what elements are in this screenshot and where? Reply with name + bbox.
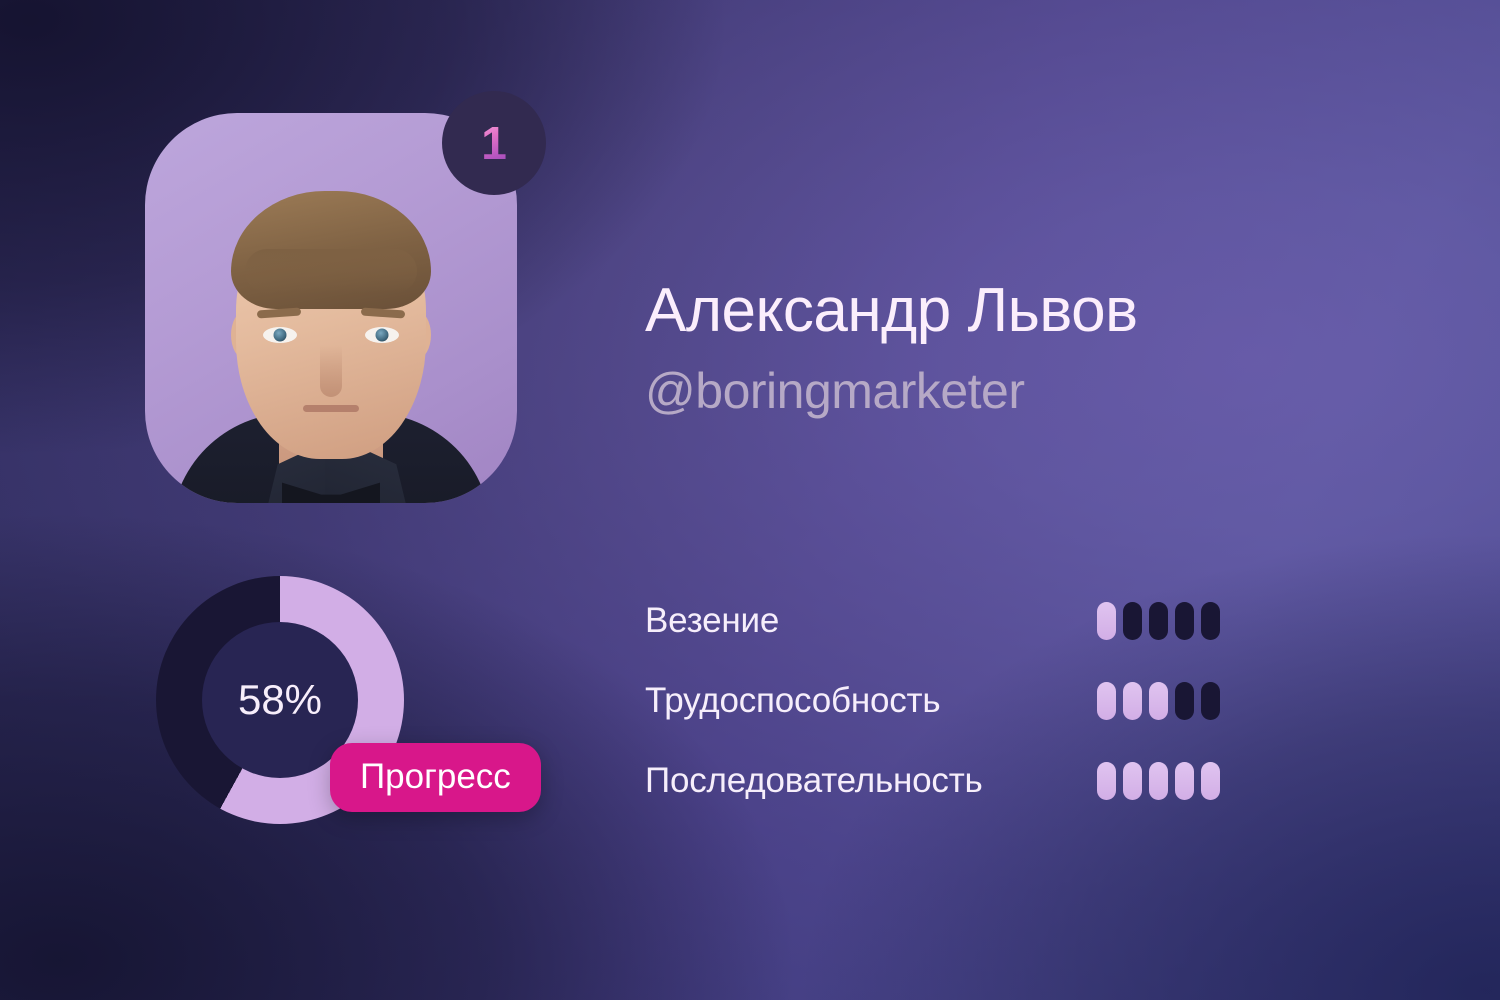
stat-label: Везение	[645, 601, 779, 641]
photo-eye-right	[365, 327, 399, 343]
rank-badge-number: 1	[481, 120, 507, 166]
progress-pill-label[interactable]: Прогресс	[330, 743, 541, 812]
stat-pip-filled	[1097, 602, 1116, 640]
stat-pip-filled	[1201, 762, 1220, 800]
stat-pips	[1097, 762, 1220, 800]
stat-pip-empty	[1175, 682, 1194, 720]
name-block: Александр Львов @boringmarketer	[645, 278, 1138, 418]
stat-pip-filled	[1175, 762, 1194, 800]
stat-pip-empty	[1201, 602, 1220, 640]
stat-row: Трудоспособность	[645, 672, 1220, 730]
stats-list: ВезениеТрудоспособностьПоследовательност…	[645, 592, 1220, 810]
stat-pip-filled	[1149, 682, 1168, 720]
stat-pip-filled	[1149, 762, 1168, 800]
stat-row: Везение	[645, 592, 1220, 650]
stat-pip-empty	[1149, 602, 1168, 640]
stat-pip-empty	[1123, 602, 1142, 640]
rank-badge: 1	[442, 91, 546, 195]
stat-label: Последовательность	[645, 761, 983, 801]
stat-label: Трудоспособность	[645, 681, 940, 721]
stat-pip-empty	[1175, 602, 1194, 640]
photo-eye-left	[263, 327, 297, 343]
stat-pip-empty	[1201, 682, 1220, 720]
photo-hair	[231, 191, 431, 309]
stat-pips	[1097, 682, 1220, 720]
profile-card: 1 Александр Львов @boringmarketer 58% Пр…	[0, 0, 1500, 1000]
profile-handle: @boringmarketer	[645, 365, 1138, 418]
stat-pip-filled	[1123, 762, 1142, 800]
photo-mouth	[303, 405, 359, 412]
stat-pip-filled	[1097, 762, 1116, 800]
stat-pip-filled	[1123, 682, 1142, 720]
stat-row: Последовательность	[645, 752, 1220, 810]
stat-pips	[1097, 602, 1220, 640]
photo-nose	[320, 345, 342, 397]
page-title: Александр Львов	[645, 278, 1138, 343]
progress-value: 58%	[238, 676, 322, 724]
stat-pip-filled	[1097, 682, 1116, 720]
